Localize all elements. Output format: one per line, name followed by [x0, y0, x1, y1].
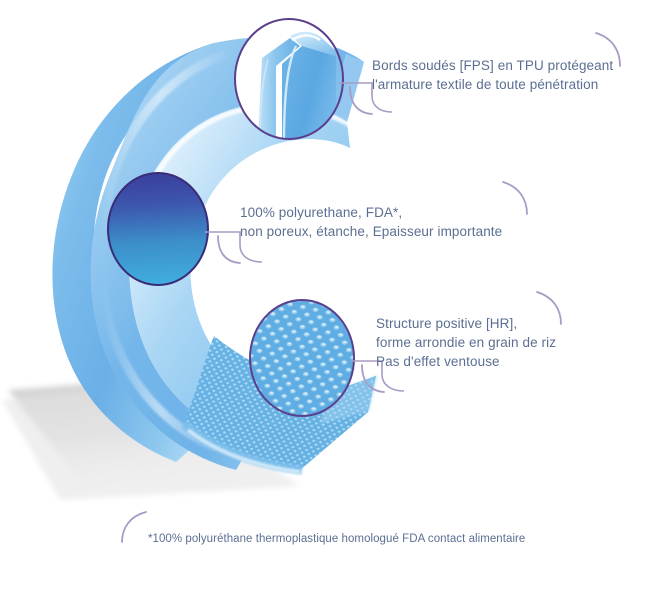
callout-2-circle[interactable] — [108, 173, 208, 285]
callout-2-line-1: 100% polyurethane, FDA*, — [240, 203, 502, 222]
callout-3-line-3: Pas d'effet ventouse — [376, 352, 556, 371]
bracket-footnote-top-left — [122, 512, 146, 542]
callout-2-line-2: non poreux, étanche, Epaisseur important… — [240, 222, 502, 241]
callout-welded-edges-text: Bords soudés [FPS] en TPU protégeant l'a… — [372, 56, 613, 94]
diagram-page: Bords soudés [FPS] en TPU protégeant l'a… — [0, 0, 650, 600]
callout-1-line-2: l'armature textile de toute pénétration — [372, 75, 613, 94]
callout-material-composition-text: 100% polyurethane, FDA*, non poreux, éta… — [240, 203, 502, 241]
bracket-2-bottom-left — [218, 236, 240, 263]
callout-3-line-2: forme arrondie en grain de riz — [376, 333, 556, 352]
bracket-2-top-right — [503, 182, 527, 214]
callout-surface-structure-text: Structure positive [HR], forme arrondie … — [376, 314, 556, 371]
footnote-text: *100% polyuréthane thermoplastique homol… — [148, 531, 525, 547]
callout-3-line-1: Structure positive [HR], — [376, 314, 556, 333]
callout-1-line-1: Bords soudés [FPS] en TPU protégeant — [372, 56, 613, 75]
